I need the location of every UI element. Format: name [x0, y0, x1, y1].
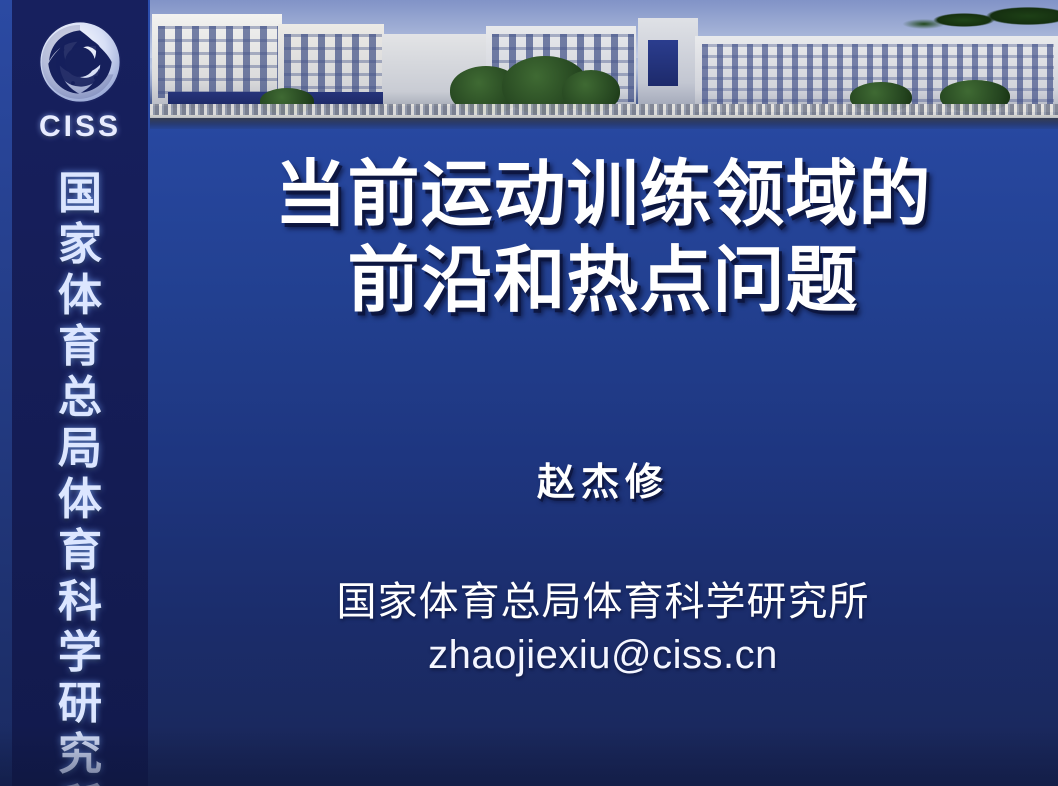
vertical-char: 所: [12, 780, 148, 786]
slide-content: 当前运动训练领域的 前沿和热点问题 赵杰修 国家体育总局体育科学研究所 zhao…: [148, 129, 1058, 786]
vertical-char: 育: [12, 525, 148, 576]
banner-bottom-fade: [150, 116, 1058, 129]
ciss-logo: CISS: [12, 18, 148, 144]
vertical-char: 学: [12, 627, 148, 678]
tree-branch-icon: [878, 0, 1058, 40]
title-line-1: 当前运动训练领域的: [148, 151, 1058, 237]
ciss-swirl-emblem-icon: [36, 18, 124, 106]
sidebar-vertical-institute-name: 国 家 体 育 总 局 体 育 科 学 研 究 所: [12, 168, 148, 786]
vertical-char: 家: [12, 219, 148, 270]
vertical-char: 研: [12, 678, 148, 729]
presenter-name: 赵杰修: [148, 451, 1058, 506]
vertical-char: 局: [12, 423, 148, 474]
vertical-char: 体: [12, 474, 148, 525]
vertical-char: 体: [12, 270, 148, 321]
vertical-char: 科: [12, 576, 148, 627]
vertical-char: 总: [12, 372, 148, 423]
ciss-acronym-label: CISS: [12, 110, 148, 144]
contact-email: zhaojiexiu@ciss.cn: [148, 633, 1058, 678]
vertical-char: 究: [12, 729, 148, 780]
window-band-2: [284, 34, 382, 96]
vertical-char: 国: [12, 168, 148, 219]
campus-photo-banner: [150, 0, 1058, 129]
tower-blue-panel: [648, 40, 678, 86]
vertical-char: 育: [12, 321, 148, 372]
presentation-slide: CISS 国 家 体 育 总 局 体 育 科 学 研 究 所 当前运动训练领域的…: [0, 0, 1058, 786]
left-edge-strip: [0, 0, 12, 786]
title-line-2: 前沿和热点问题: [148, 237, 1058, 323]
slide-title: 当前运动训练领域的 前沿和热点问题: [148, 151, 1058, 323]
affiliation-line: 国家体育总局体育科学研究所: [148, 569, 1058, 627]
window-band-1: [158, 26, 278, 98]
